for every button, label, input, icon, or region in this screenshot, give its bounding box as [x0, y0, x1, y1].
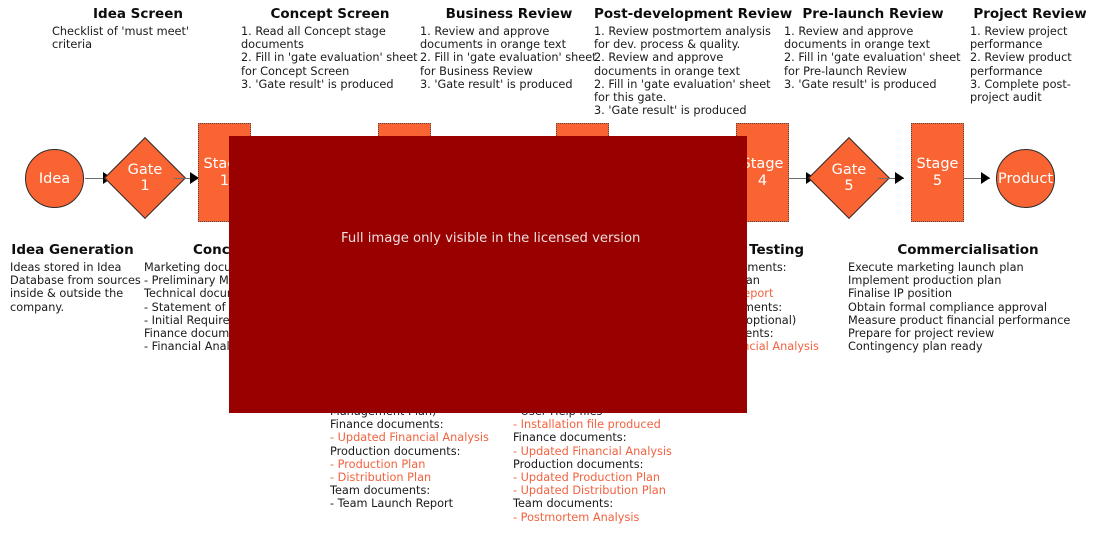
gate-line: for Pre-launch Review — [784, 65, 962, 78]
gate-lines: 1. Review postmortem analysis for dev. p… — [594, 25, 770, 117]
document-line: - Updated Financial Analysis — [330, 431, 520, 444]
arrowhead-icon — [895, 172, 904, 184]
document-line: Finance documents: — [513, 431, 713, 444]
stage-line: Ideas stored in Idea — [10, 261, 135, 274]
flow-node-idea[interactable]: Idea — [25, 149, 84, 208]
stage-description-idea-generation: Idea Generation Ideas stored in Idea Dat… — [10, 242, 135, 314]
document-line: - Updated Distribution Plan — [513, 484, 713, 497]
stage-description-commercialisation: Commercialisation Execute marketing laun… — [848, 242, 1088, 353]
gate-title: Project Review — [970, 6, 1090, 22]
gate-line: documents in orange text — [420, 38, 598, 51]
stage-lines: Ideas stored in Idea Database from sourc… — [10, 261, 135, 314]
stage-line: Measure product financial performance — [848, 314, 1088, 327]
gate-line: 1. Review project — [970, 25, 1090, 38]
gate-line: 3. Complete post- — [970, 78, 1090, 91]
gate-title: Pre-launch Review — [784, 6, 962, 22]
gate-line: documents — [241, 38, 419, 51]
flow-node-label: Gate 1 — [116, 149, 174, 207]
document-line: - Installation file produced — [513, 418, 713, 431]
gate-word: Gate — [128, 162, 163, 178]
gate-line: 3. 'Gate result' is produced — [784, 78, 962, 91]
gate-title: Concept Screen — [241, 6, 419, 22]
stage-lines: Execute marketing launch plan Implement … — [848, 261, 1088, 353]
gate-description-post-development-review: Post-development Review 1. Review postmo… — [594, 6, 770, 117]
arrowhead-icon — [981, 172, 990, 184]
gate-line: performance — [970, 65, 1090, 78]
gate-line: 1. Read all Concept stage — [241, 25, 419, 38]
gate-line: for Business Review — [420, 65, 598, 78]
document-line: Team documents: — [513, 497, 713, 510]
gate-description-project-review: Project Review 1. Review project perform… — [970, 6, 1090, 104]
gate-line: for this gate. — [594, 91, 770, 104]
stage-line: inside & outside the — [10, 287, 135, 300]
gate-description-idea-screen: Idea Screen Checklist of 'must meet' cri… — [52, 6, 224, 51]
gate-line: 1. Review and approve — [420, 25, 598, 38]
gate-line: 2. Fill in 'gate evaluation' sheet — [594, 78, 770, 91]
stage-line: company. — [10, 301, 135, 314]
stage-line: Implement production plan — [848, 274, 1088, 287]
document-line: - Updated Financial Analysis — [513, 445, 713, 458]
document-line: - Team Launch Report — [330, 497, 520, 510]
flow-node-stage-5[interactable]: Stage 5 — [911, 123, 964, 222]
gate-number: 5 — [844, 178, 853, 194]
document-line: - Updated Production Plan — [513, 471, 713, 484]
gate-line: 3. 'Gate result' is produced — [241, 78, 419, 91]
gate-line: 3. 'Gate result' is produced — [594, 104, 770, 117]
document-line: - Production Plan — [330, 458, 520, 471]
flow-node-label: Product — [998, 171, 1053, 187]
gate-lines: Checklist of 'must meet' criteria — [52, 25, 224, 51]
document-lines: - User Help files - Installation file pr… — [513, 405, 713, 524]
gate-line: 2. Fill in 'gate evaluation' sheet — [784, 51, 962, 64]
gate-line: 1. Review postmortem analysis — [594, 25, 770, 38]
gate-description-pre-launch-review: Pre-launch Review 1. Review and approve … — [784, 6, 962, 91]
stage-line: Obtain formal compliance approval — [848, 301, 1088, 314]
gate-title: Post-development Review — [594, 6, 770, 22]
document-line: - Postmortem Analysis — [513, 511, 713, 524]
stage-line: Database from sources — [10, 274, 135, 287]
stage-number: 1 — [220, 173, 229, 190]
gate-line: performance — [970, 38, 1090, 51]
gate-line: 3. 'Gate result' is produced — [420, 78, 598, 91]
gate-description-business-review: Business Review 1. Review and approve do… — [420, 6, 598, 91]
gate-word: Gate — [832, 162, 867, 178]
document-line: - Distribution Plan — [330, 471, 520, 484]
gate-line: 2. Fill in 'gate evaluation' sheet — [241, 51, 419, 64]
gate-title: Idea Screen — [52, 6, 224, 22]
document-line: Finance documents: — [330, 418, 520, 431]
stage-word: Stage — [917, 156, 959, 173]
gate-title: Business Review — [420, 6, 598, 22]
document-line: Production documents: — [330, 445, 520, 458]
document-lines: Management Plan) Finance documents: - Up… — [330, 405, 520, 511]
gate-lines: 1. Review project performance 2. Review … — [970, 25, 1090, 104]
flow-node-gate-5[interactable]: Gate 5 — [820, 149, 878, 207]
stage-line: Finalise IP position — [848, 287, 1088, 300]
stage-word: Stage — [742, 156, 784, 173]
gate-line: 2. Review product — [970, 51, 1090, 64]
stage-gate-process-diagram: { "colors": { "shape_orange": "#fa6432",… — [0, 0, 1097, 537]
gate-line: Checklist of 'must meet' — [52, 25, 224, 38]
license-overlay-message: Full image only visible in the licensed … — [341, 231, 640, 246]
gate-number: 1 — [140, 178, 149, 194]
license-overlay — [229, 136, 747, 413]
gate-lines: 1. Review and approve documents in orang… — [784, 25, 962, 91]
gate-line: 2. Review and approve — [594, 51, 770, 64]
stage-title: Idea Generation — [10, 242, 135, 258]
stage-line: Prepare for project review — [848, 327, 1088, 340]
gate-line: documents in orange text — [784, 38, 962, 51]
document-line: Production documents: — [513, 458, 713, 471]
gate-line: 1. Review and approve — [784, 25, 962, 38]
stage-title: Commercialisation — [848, 242, 1088, 258]
gate-line: for dev. process & quality. — [594, 38, 770, 51]
flow-node-product[interactable]: Product — [996, 149, 1055, 208]
gate-description-concept-screen: Concept Screen 1. Read all Concept stage… — [241, 6, 419, 91]
gate-line: documents in orange text — [594, 65, 770, 78]
stage-number: 4 — [758, 173, 767, 190]
stage-number: 5 — [933, 173, 942, 190]
document-list-stage-5: - User Help files - Installation file pr… — [513, 405, 713, 524]
gate-lines: 1. Read all Concept stage documents 2. F… — [241, 25, 419, 91]
gate-line: 2. Fill in 'gate evaluation' sheet — [420, 51, 598, 64]
flow-node-gate-1[interactable]: Gate 1 — [116, 149, 174, 207]
gate-lines: 1. Review and approve documents in orang… — [420, 25, 598, 91]
stage-line: Contingency plan ready — [848, 340, 1088, 353]
gate-line: for Concept Screen — [241, 65, 419, 78]
document-line: Team documents: — [330, 484, 520, 497]
document-list-stage-4: Management Plan) Finance documents: - Up… — [330, 405, 520, 511]
gate-line: criteria — [52, 38, 224, 51]
flow-node-label: Gate 5 — [820, 149, 878, 207]
stage-line: Execute marketing launch plan — [848, 261, 1088, 274]
gate-line: project audit — [970, 91, 1090, 104]
flow-node-label: Idea — [39, 171, 70, 187]
